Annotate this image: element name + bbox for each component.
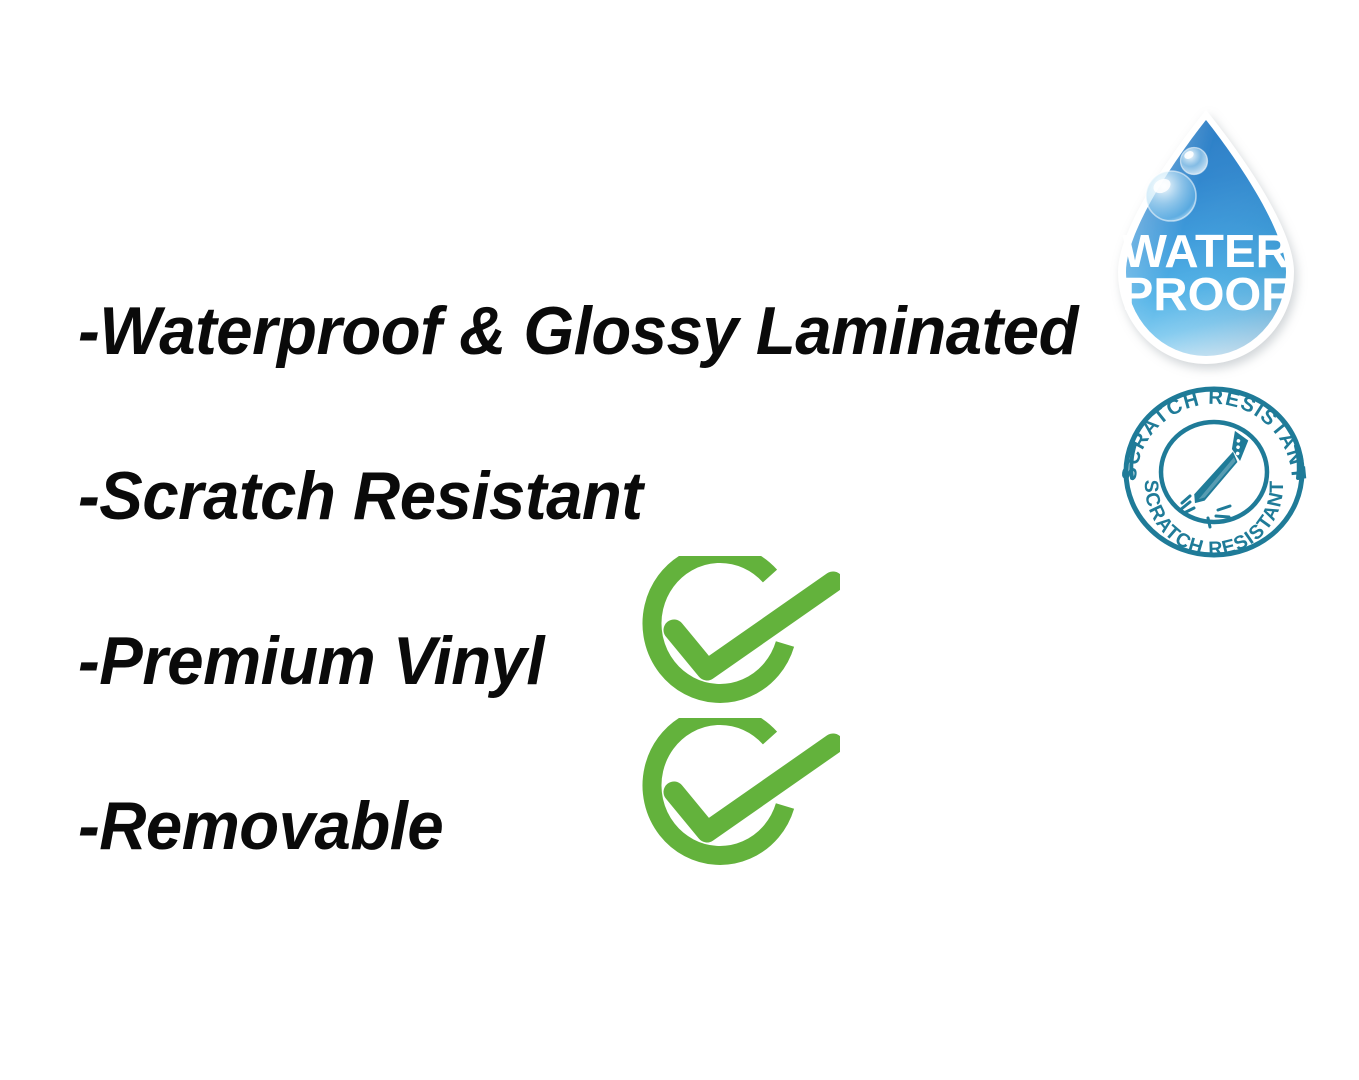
check-icon: [674, 582, 833, 670]
bubble-icon-large: [1146, 171, 1196, 221]
checkmark-circle-1: [640, 556, 840, 708]
scratch-text-top: SCRATCH RESISTANT: [1118, 386, 1310, 482]
checkmark-circle-2: [640, 718, 840, 870]
scratch-text-bottom: SCRATCH RESISTANT: [1140, 480, 1288, 558]
inner-ring: [1161, 422, 1267, 522]
check-icon: [674, 744, 833, 832]
feature-label-scratch-resistant: -Scratch Resistant: [78, 462, 643, 530]
list-item: -Waterproof & Glossy Laminated: [78, 248, 1108, 413]
list-item: -Premium Vinyl: [78, 578, 1108, 743]
feature-label-removable: -Removable: [78, 792, 443, 860]
waterproof-badge: WATER PROOF: [1108, 108, 1304, 364]
feature-list: -Waterproof & Glossy Laminated -Scratch …: [78, 248, 1108, 908]
scratch-resistant-badge: SCRATCH RESISTANT SCRATCH RESISTANT: [1112, 386, 1316, 558]
feature-label-premium-vinyl: -Premium Vinyl: [78, 627, 544, 695]
droplet-shape: [1118, 110, 1294, 364]
bubble-icon-small: [1181, 148, 1208, 175]
list-item: -Scratch Resistant: [78, 413, 1108, 578]
knife-icon: [1191, 426, 1250, 513]
list-item: -Removable: [78, 743, 1108, 908]
feature-label-waterproof: -Waterproof & Glossy Laminated: [78, 297, 1078, 365]
product-feature-graphic: -Waterproof & Glossy Laminated -Scratch …: [0, 0, 1359, 1080]
